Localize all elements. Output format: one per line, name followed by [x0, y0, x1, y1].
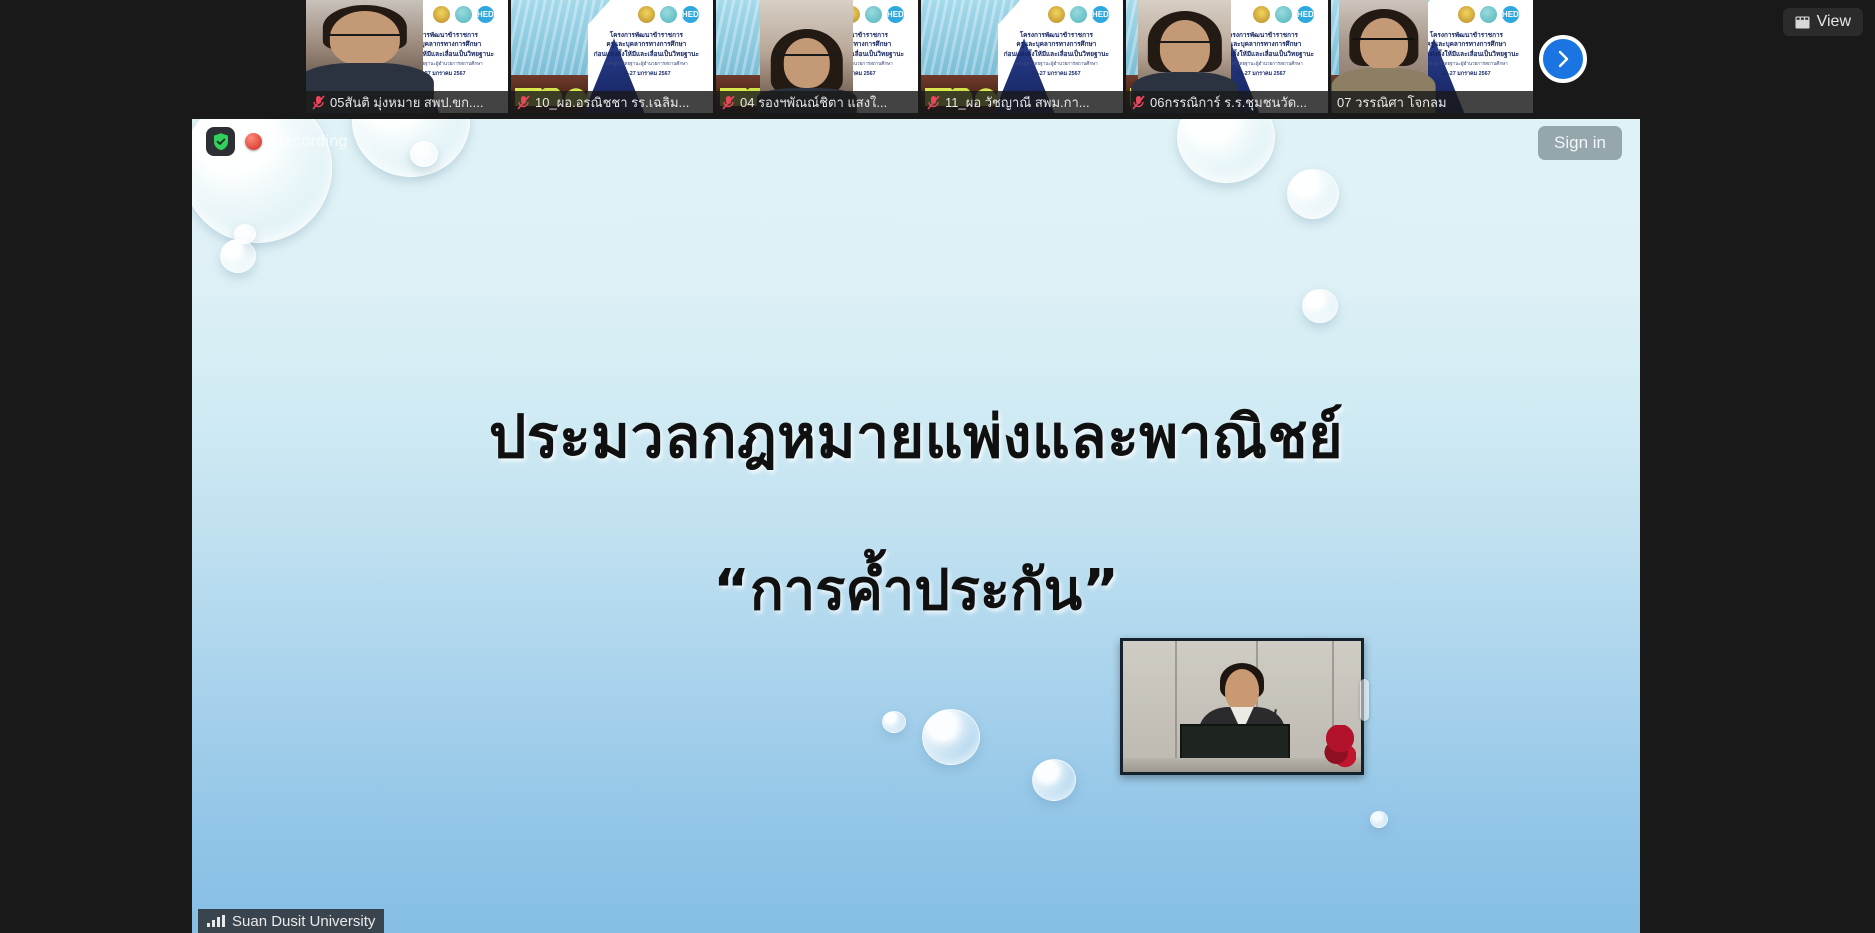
- sign-in-label: Sign in: [1554, 133, 1606, 153]
- teal-logo-icon: [1480, 6, 1497, 23]
- participant-thumbnail[interactable]: HED โครงการพัฒนาข้าราชการครูและบุคลากรทา…: [921, 0, 1123, 113]
- meeting-window: HED โครงการพัฒนาข้าราชการครูและบุคลากรทา…: [0, 0, 1875, 933]
- hed-logo-icon: HED: [887, 6, 904, 23]
- pip-resize-handle[interactable]: [1360, 679, 1369, 721]
- droplet-decoration: [1302, 289, 1338, 323]
- crest-logo-icon: [1253, 6, 1270, 23]
- thumbnail-label: 11_ผอ วัชญาณี สพม.กา...: [921, 91, 1123, 113]
- crest-logo-icon: [433, 6, 450, 23]
- thumbnail-label: 06กรรณิการ์ ร.ร.ชุมชนวัด...: [1126, 91, 1328, 113]
- thumbnail-label: 04 รองฯพัณณ์ชิตา แสงใ...: [716, 91, 918, 113]
- crest-logo-icon: [638, 6, 655, 23]
- mic-muted-icon: [517, 95, 530, 110]
- teal-logo-icon: [660, 6, 677, 23]
- source-label-text: Suan Dusit University: [232, 913, 375, 930]
- recording-label: Recording: [272, 133, 348, 151]
- thumbnail-label: 05สันติ มุ่งหมาย สพป.ขก....: [306, 91, 508, 113]
- participant-name: 06กรรณิการ์ ร.ร.ชุมชนวัด...: [1150, 92, 1307, 113]
- presenter-video[interactable]: [1120, 638, 1364, 775]
- teal-logo-icon: [865, 6, 882, 23]
- recording-indicator: Recording: [206, 127, 348, 156]
- crest-logo-icon: [1048, 6, 1065, 23]
- participant-name: 05สันติ มุ่งหมาย สพป.ขก....: [330, 92, 484, 113]
- slide-subtitle: “การค้ำประกัน”: [713, 545, 1119, 634]
- teal-logo-icon: [1275, 6, 1292, 23]
- screen-share-source-label: Suan Dusit University: [198, 909, 384, 933]
- signal-bars-icon: [207, 915, 225, 927]
- shield-check-icon: [206, 127, 235, 156]
- next-participants-button[interactable]: [1539, 35, 1587, 83]
- droplet-decoration: [1177, 119, 1275, 183]
- banner-logos: HED: [433, 6, 494, 23]
- hed-logo-icon: HED: [1297, 6, 1314, 23]
- droplet-decoration: [1287, 169, 1339, 219]
- chevron-right-icon: [1553, 49, 1573, 69]
- view-button[interactable]: View: [1783, 8, 1863, 36]
- banner-text: โครงการพัฒนาข้าราชการครูและบุคลากรทางการ…: [588, 31, 705, 79]
- participant-name: 07 วรรณิศา โจกลม: [1337, 92, 1447, 113]
- participant-thumbnail[interactable]: HED โครงการพัฒนาข้าราชการครูและบุคลากรทา…: [1126, 0, 1328, 113]
- mic-muted-icon: [722, 95, 735, 110]
- droplet-decoration: [1032, 759, 1076, 801]
- shared-screen[interactable]: ประมวลกฎหมายแพ่งและพาณิชย์ “การค้ำประกัน…: [192, 119, 1640, 933]
- slide-content: ประมวลกฎหมายแพ่งและพาณิชย์ “การค้ำประกัน…: [192, 119, 1640, 933]
- mic-muted-icon: [1132, 95, 1145, 110]
- teal-logo-icon: [455, 6, 472, 23]
- participant-thumbnail[interactable]: HED โครงการพัฒนาข้าราชการครูและบุคลากรทา…: [1331, 0, 1533, 113]
- recording-dot-icon: [245, 133, 262, 150]
- droplet-decoration: [410, 141, 438, 167]
- participant-thumbnail[interactable]: HED โครงการพัฒนาข้าราชการครูและบุคลากรทา…: [306, 0, 508, 113]
- thumbnail-label: 10_ผอ.อรณิชชา รร.เฉลิม...: [511, 91, 713, 113]
- droplet-decoration: [882, 711, 906, 733]
- window-grid-icon: [1795, 16, 1810, 29]
- droplet-decoration: [220, 239, 256, 273]
- teal-logo-icon: [1070, 6, 1087, 23]
- participant-name: 11_ผอ วัชญาณี สพม.กา...: [945, 92, 1090, 113]
- view-button-label: View: [1817, 13, 1851, 31]
- hed-logo-icon: HED: [1502, 6, 1519, 23]
- hed-logo-icon: HED: [477, 6, 494, 23]
- banner-text: โครงการพัฒนาข้าราชการครูและบุคลากรทางการ…: [998, 31, 1115, 79]
- participant-thumbnail-strip[interactable]: HED โครงการพัฒนาข้าราชการครูและบุคลากรทา…: [306, 0, 1531, 115]
- participant-name: 10_ผอ.อรณิชชา รร.เฉลิม...: [535, 92, 689, 113]
- slide-title: ประมวลกฎหมายแพ่งและพาณิชย์: [489, 389, 1343, 483]
- participant-thumbnail[interactable]: HED โครงการพัฒนาข้าราชการครูและบุคลากรทา…: [511, 0, 713, 113]
- participant-name: 04 รองฯพัณณ์ชิตา แสงใ...: [740, 92, 887, 113]
- sign-in-button[interactable]: Sign in: [1538, 126, 1622, 160]
- thumbnail-label: 07 วรรณิศา โจกลม: [1331, 91, 1533, 113]
- participant-thumbnail[interactable]: HED โครงการพัฒนาข้าราชการครูและบุคลากรทา…: [716, 0, 918, 113]
- droplet-decoration: [1370, 811, 1388, 828]
- mic-muted-icon: [927, 95, 940, 110]
- crest-logo-icon: [1458, 6, 1475, 23]
- hed-logo-icon: HED: [682, 6, 699, 23]
- droplet-decoration: [922, 709, 980, 765]
- hed-logo-icon: HED: [1092, 6, 1109, 23]
- mic-muted-icon: [312, 95, 325, 110]
